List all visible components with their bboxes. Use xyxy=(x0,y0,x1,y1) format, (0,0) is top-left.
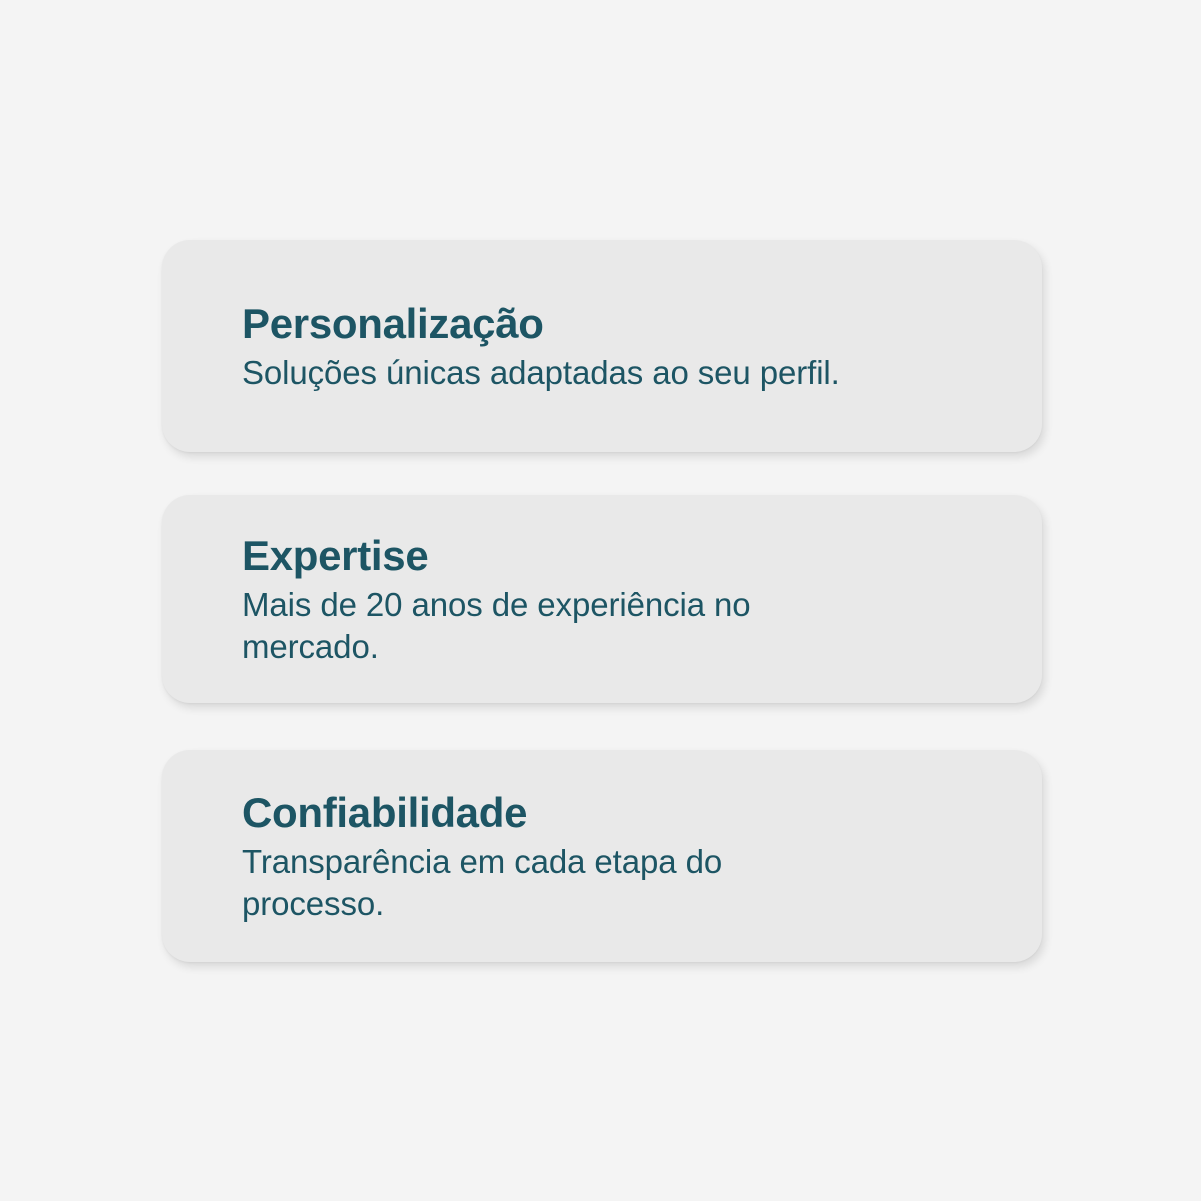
card-title: Confiabilidade xyxy=(242,788,1004,838)
feature-card-personalizacao[interactable]: Personalização Soluções únicas adaptadas… xyxy=(162,240,1042,452)
card-content: Personalização Soluções únicas adaptadas… xyxy=(242,299,1004,394)
feature-card-expertise[interactable]: Expertise Mais de 20 anos de experiência… xyxy=(162,495,1042,703)
card-description: Mais de 20 anos de experiência no mercad… xyxy=(242,584,842,668)
card-title: Personalização xyxy=(242,299,1004,349)
feature-card-confiabilidade[interactable]: Confiabilidade Transparência em cada eta… xyxy=(162,750,1042,962)
card-content: Confiabilidade Transparência em cada eta… xyxy=(242,788,1004,925)
card-title: Expertise xyxy=(242,531,1004,581)
card-description: Transparência em cada etapa do processo. xyxy=(242,841,842,925)
card-description: Soluções únicas adaptadas ao seu perfil. xyxy=(242,352,1002,394)
feature-card-stack: Personalização Soluções únicas adaptadas… xyxy=(162,240,1042,962)
card-content: Expertise Mais de 20 anos de experiência… xyxy=(242,531,1004,668)
